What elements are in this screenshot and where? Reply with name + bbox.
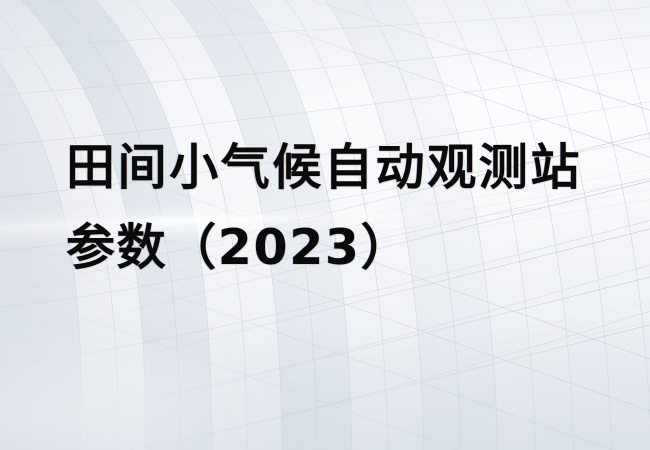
title-line-1: 田间小气候自动观测站 <box>66 128 626 208</box>
title-banner-image: 田间小气候自动观测站 参数（2023） <box>0 0 650 450</box>
title-line-2: 参数（2023） <box>66 208 626 288</box>
title-block: 田间小气候自动观测站 参数（2023） <box>66 128 626 288</box>
